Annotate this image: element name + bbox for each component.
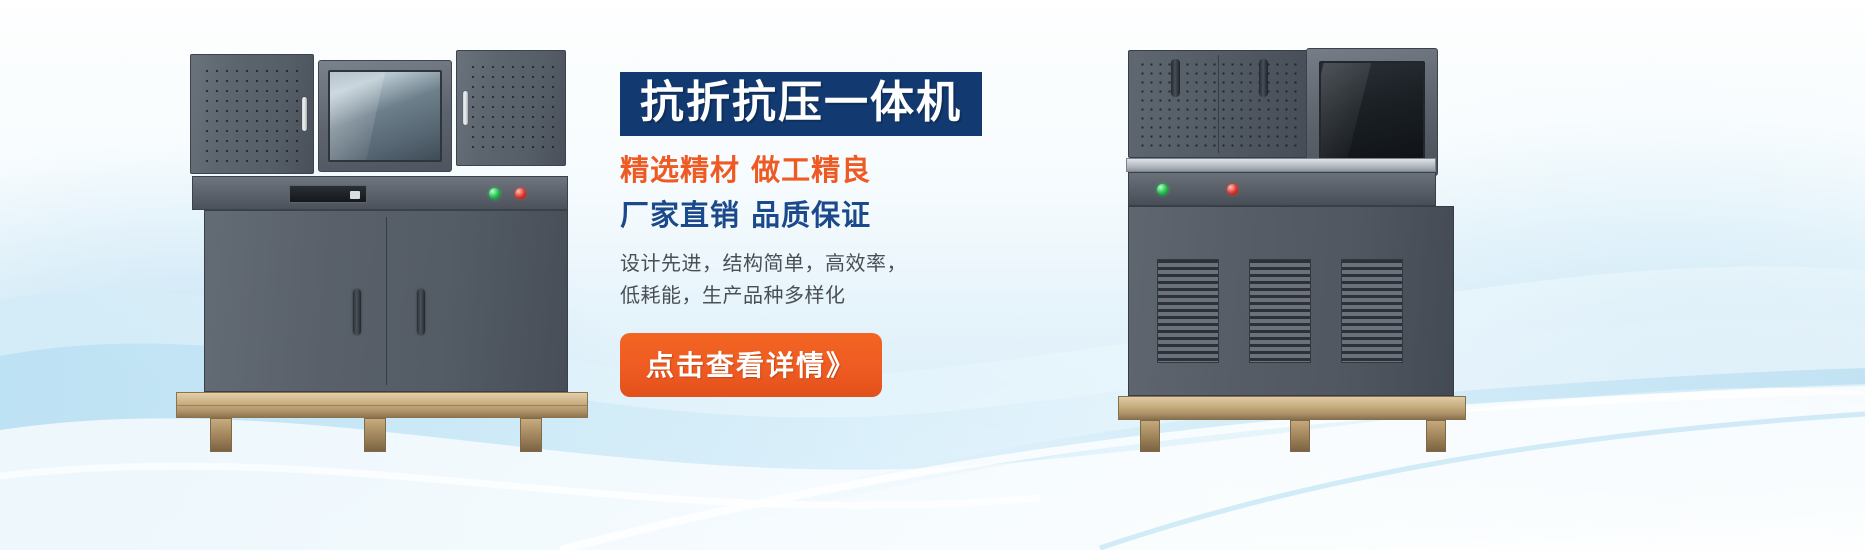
left-machine-perforated-door-left [190, 54, 314, 174]
right-machine-control-panel [1128, 172, 1436, 206]
right-machine-mid-band [1126, 158, 1436, 172]
ventilation-louver [1341, 259, 1403, 363]
green-indicator-led-icon [489, 188, 500, 199]
ventilation-louver [1157, 259, 1219, 363]
subtitle-orange: 精选精材 做工精良 [620, 154, 1080, 187]
perforation-pattern [202, 66, 302, 162]
product-image-right [1118, 40, 1466, 448]
left-machine-display-window [289, 185, 367, 203]
pallet-leg [364, 418, 386, 452]
perforation-pattern [1138, 60, 1298, 148]
red-indicator-led-icon [1227, 184, 1238, 195]
pallet-leg [1426, 420, 1446, 452]
pallet-leg [1140, 420, 1160, 452]
left-machine-upper-section [168, 44, 588, 176]
left-machine-perforated-door-right [456, 50, 566, 166]
promo-banner: 抗折抗压一体机 精选精材 做工精良 厂家直销 品质保证 设计先进，结构简单，高效… [0, 0, 1865, 550]
cabinet-handle-icon [353, 289, 361, 335]
subtitle-blue: 厂家直销 品质保证 [620, 199, 1080, 232]
door-handle-icon [463, 91, 468, 125]
right-machine-monitor-screen [1319, 61, 1425, 163]
right-machine-monitor-enclosure [1306, 48, 1438, 176]
ventilation-louver [1249, 259, 1311, 363]
description-line-2: 低耗能，生产品种多样化 [620, 279, 1080, 311]
left-machine-cabinet [204, 210, 568, 392]
perforation-pattern [468, 62, 554, 154]
product-image-left [168, 44, 588, 444]
door-handle-icon [1171, 59, 1180, 97]
left-machine-monitor-enclosure [318, 60, 452, 172]
right-machine-wooden-pallet [1118, 396, 1466, 420]
left-machine-control-panel [192, 176, 568, 210]
green-indicator-led-icon [1157, 184, 1168, 195]
left-machine-monitor-screen [328, 70, 442, 162]
description-line-1: 设计先进，结构简单，高效率， [620, 247, 1080, 279]
headline-banner: 抗折抗压一体机 [620, 72, 982, 136]
banner-copy-block: 抗折抗压一体机 精选精材 做工精良 厂家直销 品质保证 设计先进，结构简单，高效… [620, 72, 1080, 397]
door-handle-icon [302, 97, 307, 131]
cabinet-handle-icon [417, 289, 425, 335]
view-details-button[interactable]: 点击查看详情》 [620, 333, 882, 397]
red-indicator-led-icon [515, 188, 526, 199]
right-machine-perforated-panel [1128, 50, 1308, 158]
pallet-leg [1290, 420, 1310, 452]
right-machine-cabinet [1128, 206, 1454, 396]
left-machine-wooden-pallet [176, 392, 588, 418]
door-handle-icon [1259, 59, 1268, 97]
page-title: 抗折抗压一体机 [640, 81, 962, 125]
pallet-leg [520, 418, 542, 452]
pallet-leg [210, 418, 232, 452]
